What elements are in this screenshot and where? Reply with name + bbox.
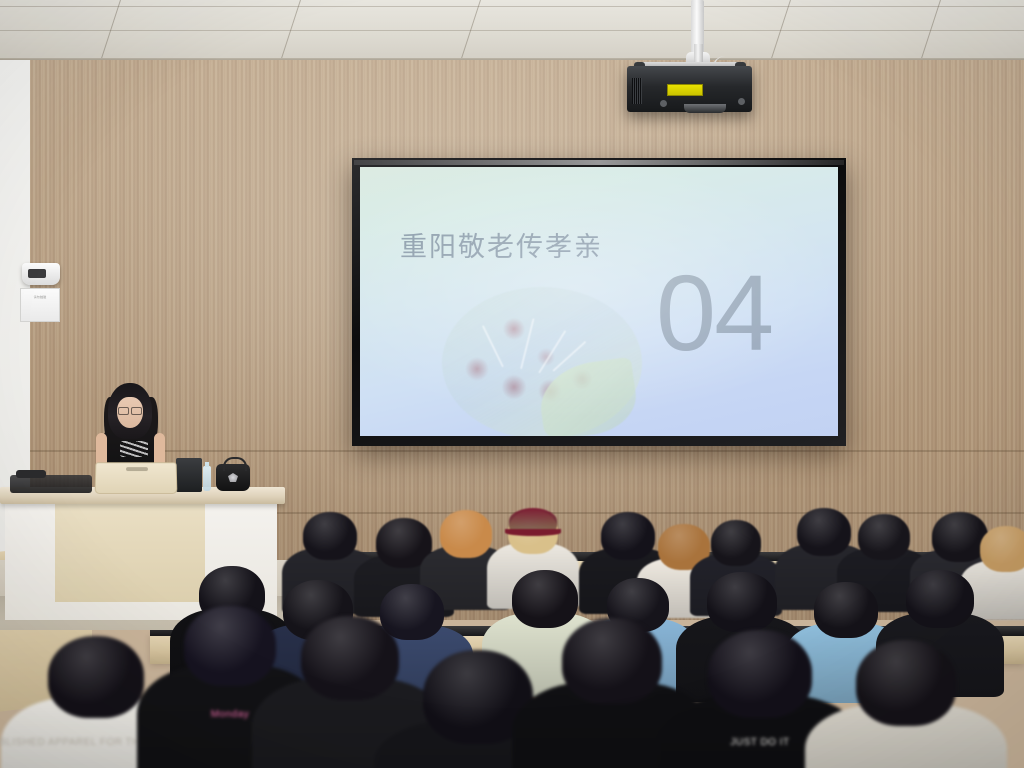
audience-member-head xyxy=(711,520,761,566)
shirt-graphic-text: JUST DO IT xyxy=(730,737,789,748)
slide-section-number: 04 xyxy=(656,259,772,367)
podium-monitor xyxy=(176,458,202,492)
handbag-clasp xyxy=(228,473,238,482)
audience-member xyxy=(805,640,1007,768)
audience-member-head xyxy=(858,514,910,560)
audience-member-head xyxy=(440,510,492,558)
audience-member-head xyxy=(707,572,777,632)
wall-speaker-device xyxy=(22,263,60,285)
shirt-graphic-text: Monday xyxy=(211,709,250,720)
audience-member-head xyxy=(562,618,662,704)
slide-cherry-photo xyxy=(442,287,642,436)
wall-sign: 请勿触碰 xyxy=(20,288,60,322)
projection-screen: 重阳敬老传孝亲 04 xyxy=(352,158,846,446)
audience-member-head xyxy=(856,640,956,726)
podium-remote xyxy=(16,470,46,478)
baseball-cap xyxy=(509,508,557,534)
screen-top-gloss xyxy=(354,160,844,165)
projector-vent xyxy=(632,78,642,104)
projector-mount xyxy=(0,0,1024,140)
water-bottle xyxy=(203,466,211,491)
slide-title: 重阳敬老传孝亲 xyxy=(400,225,603,264)
glasses-icon xyxy=(118,407,142,413)
podium-laptop xyxy=(95,462,178,494)
audience-member-head xyxy=(708,630,812,718)
audience-member-head xyxy=(48,636,144,718)
audience-member-head xyxy=(980,526,1024,572)
presenter-shirt-print xyxy=(120,441,148,457)
slide-leaf xyxy=(535,357,640,436)
projector-warning-label xyxy=(667,84,703,96)
handbag xyxy=(216,464,250,491)
audience-member-head xyxy=(303,512,357,560)
audience-member-head xyxy=(906,570,974,628)
lecture-hall-photo: 请勿触碰 重阳敬老传孝亲 04 xyxy=(0,0,1024,768)
slide-content: 重阳敬老传孝亲 04 xyxy=(360,167,838,436)
projector-lens xyxy=(684,104,726,113)
